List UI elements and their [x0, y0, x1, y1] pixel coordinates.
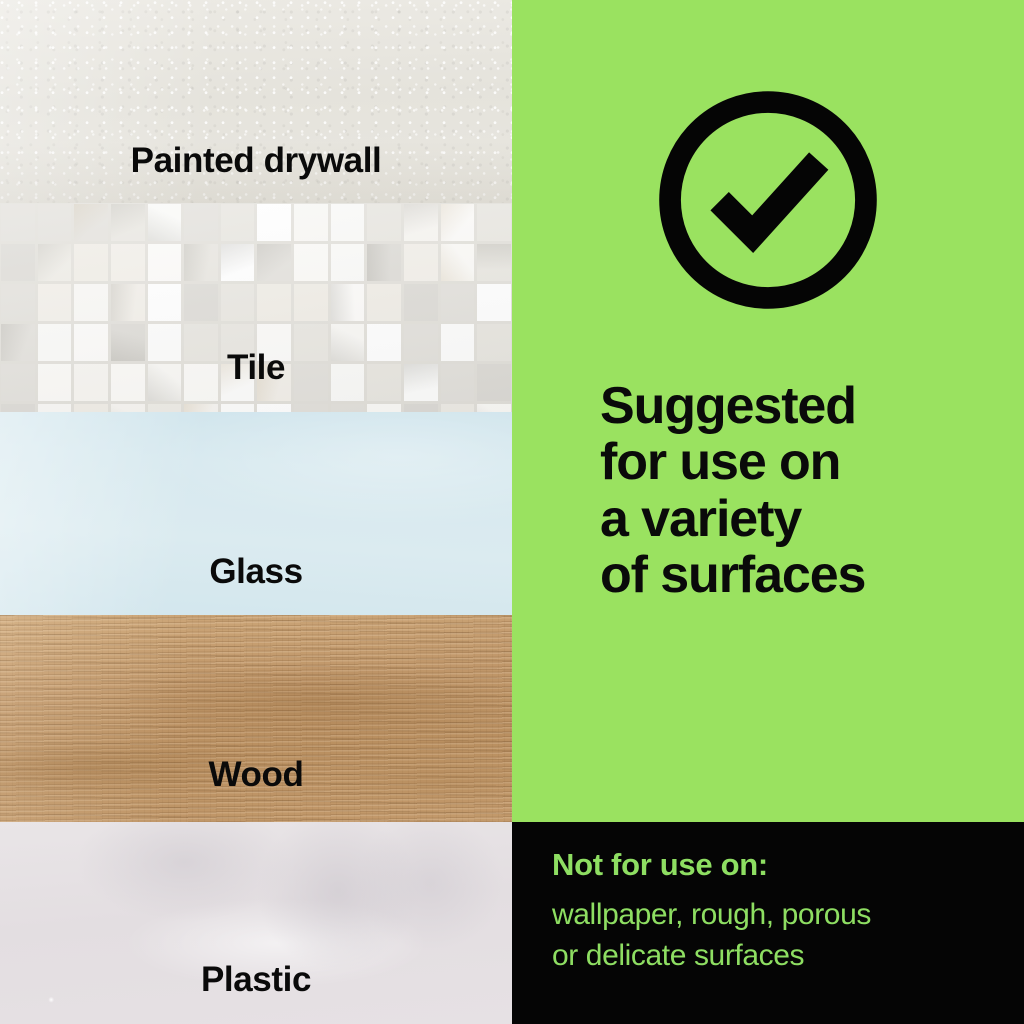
tile-cell: [1, 204, 35, 241]
tile-cell: [367, 284, 401, 321]
tile-cell: [111, 404, 145, 412]
tile-cell: [294, 204, 328, 241]
tile-cell: [38, 204, 72, 241]
surface-panel-wood: Wood: [0, 615, 512, 822]
surface-label-glass: Glass: [0, 554, 512, 589]
tile-cell: [221, 204, 255, 241]
tile-cell: [111, 284, 145, 321]
tile-cell: [221, 284, 255, 321]
not-for-use-body: wallpaper, rough, porous or delicate sur…: [552, 895, 1012, 976]
tile-cell: [294, 284, 328, 321]
tile-cell: [331, 404, 365, 412]
check-circle-icon: [650, 82, 886, 318]
suggested-for-use-panel: Suggested for use on a variety of surfac…: [512, 0, 1024, 822]
tile-cell: [404, 284, 438, 321]
tile-cell: [441, 404, 475, 412]
tile-cell: [477, 204, 511, 241]
tile-cell: [367, 244, 401, 281]
not-for-use-body-line-1: wallpaper, rough, porous: [552, 895, 1012, 936]
tile-cell: [184, 284, 218, 321]
tile-cell: [294, 404, 328, 412]
tile-cell: [74, 204, 108, 241]
tile-cell: [477, 284, 511, 321]
tile-cell: [441, 284, 475, 321]
tile-cell: [1, 244, 35, 281]
tile-cell: [148, 204, 182, 241]
tile-cell: [74, 404, 108, 412]
tile-cell: [148, 244, 182, 281]
tile-cell: [257, 204, 291, 241]
tile-cell: [38, 284, 72, 321]
tile-cell: [477, 404, 511, 412]
tile-cell: [74, 244, 108, 281]
tile-cell: [1, 284, 35, 321]
tile-cell: [184, 204, 218, 241]
surface-label-painted-drywall: Painted drywall: [0, 143, 512, 178]
tile-cell: [441, 204, 475, 241]
tile-cell: [184, 404, 218, 412]
not-for-use-title: Not for use on:: [552, 849, 768, 880]
not-for-use-body-line-2: or delicate surfaces: [552, 936, 1012, 977]
tile-cell: [184, 244, 218, 281]
suggested-heading-line-2: for use on: [600, 434, 1020, 490]
tile-cell: [331, 204, 365, 241]
tile-cell: [148, 284, 182, 321]
tile-cell: [74, 284, 108, 321]
tile-cell: [441, 244, 475, 281]
tile-cell: [111, 244, 145, 281]
tile-cell: [221, 404, 255, 412]
suggested-heading: Suggested for use on a variety of surfac…: [600, 378, 1020, 604]
surface-panel-tile: Tile: [0, 203, 512, 412]
tile-cell: [257, 404, 291, 412]
surface-label-wood: Wood: [0, 757, 512, 792]
not-for-use-panel: Not for use on: wallpaper, rough, porous…: [512, 822, 1024, 1024]
surface-panel-painted-drywall: Painted drywall: [0, 0, 512, 203]
surface-label-plastic: Plastic: [0, 962, 512, 997]
tile-cell: [367, 404, 401, 412]
surface-swatch-column: Painted drywall Tile Glass Wood Plastic: [0, 0, 512, 1024]
tile-cell: [294, 244, 328, 281]
tile-cell: [331, 284, 365, 321]
tile-cell: [477, 244, 511, 281]
tile-cell: [38, 244, 72, 281]
surface-label-tile: Tile: [0, 350, 512, 385]
tile-cell: [404, 204, 438, 241]
tile-cell: [1, 404, 35, 412]
tile-cell: [404, 244, 438, 281]
tile-cell: [111, 204, 145, 241]
tile-cell: [257, 284, 291, 321]
surface-panel-plastic: Plastic: [0, 822, 512, 1024]
tile-cell: [148, 404, 182, 412]
suggested-heading-line-4: of surfaces: [600, 547, 1020, 603]
infographic-canvas: Painted drywall Tile Glass Wood Plastic: [0, 0, 1024, 1024]
suggested-heading-line-3: a variety: [600, 491, 1020, 547]
surface-panel-glass: Glass: [0, 412, 512, 615]
tile-cell: [367, 204, 401, 241]
tile-cell: [38, 404, 72, 412]
tile-cell: [331, 244, 365, 281]
suggested-heading-line-1: Suggested: [600, 378, 1020, 434]
tile-cell: [221, 244, 255, 281]
tile-cell: [404, 404, 438, 412]
tile-cell: [257, 244, 291, 281]
